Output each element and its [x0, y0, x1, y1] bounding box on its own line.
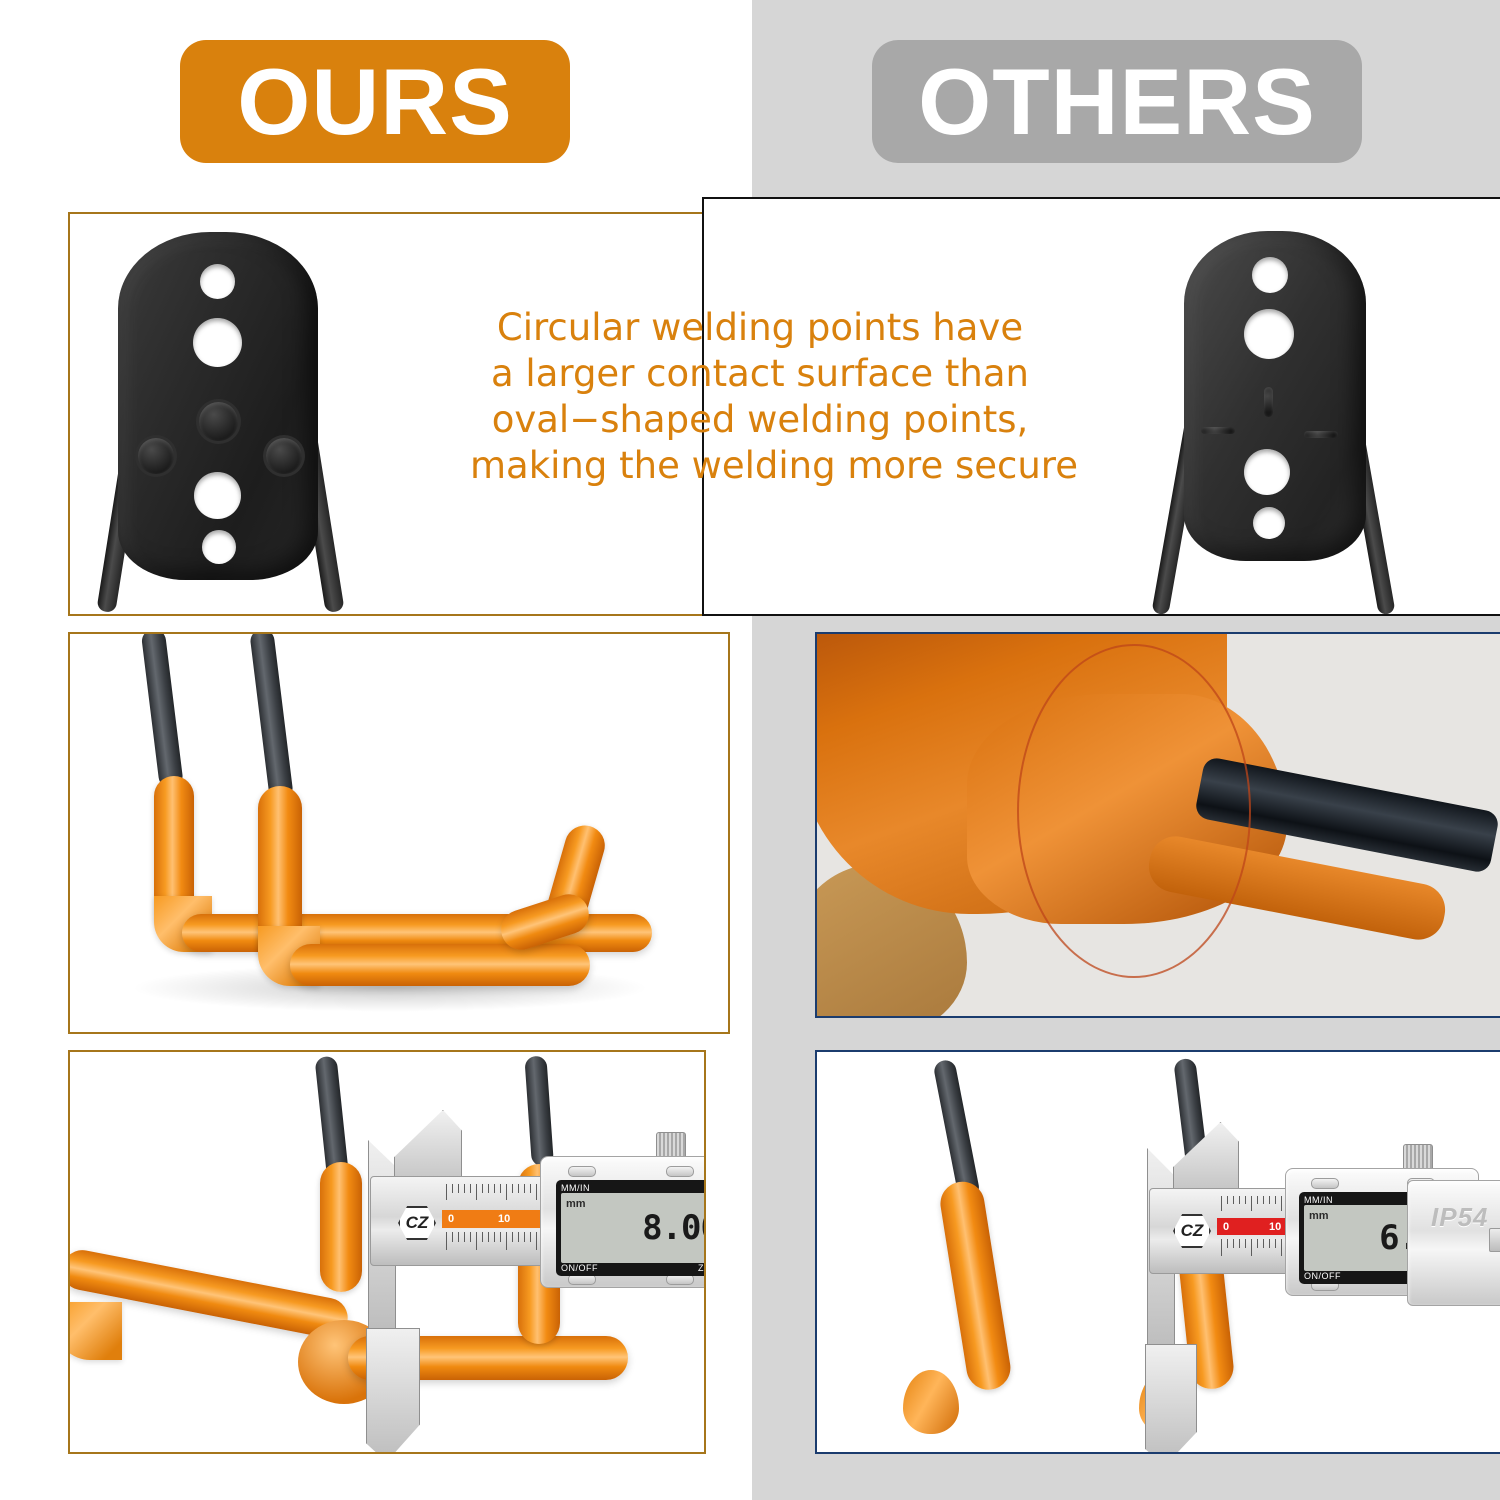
caliper-scale-start: 0: [448, 1213, 454, 1225]
caliper-lcd-module: MM/IN ABS mm 8.00 ON/OFF ZERO: [556, 1180, 706, 1276]
mounting-hole-upper: [1244, 309, 1294, 359]
hook-left-orange-sleeve: [937, 1179, 1013, 1393]
caliper-scale-start: 0: [1223, 1221, 1229, 1233]
mounting-hole-bottom: [1253, 507, 1285, 539]
caliper-depth-rod: [1489, 1228, 1500, 1252]
caliper-button-mmin-top[interactable]: [1311, 1178, 1339, 1189]
caliper-lower-blade: [1145, 1344, 1197, 1454]
panel-others-caliper: CZ 0 10: [815, 1050, 1500, 1454]
hook-front-horizontal: [290, 944, 590, 986]
lcd-label-mmin: MM/IN: [561, 1183, 590, 1193]
mounting-hole-top: [1252, 257, 1288, 293]
welding-point-oval-right: [1304, 431, 1338, 438]
lcd-unit: mm: [1309, 1210, 1329, 1222]
welding-point-center: [199, 402, 238, 441]
caption-line-1: Circular welding points have: [470, 305, 1050, 351]
caliper-slider-housing: [1407, 1180, 1500, 1306]
caliper-lower-blade: [366, 1328, 420, 1454]
caliper-button-abs-top[interactable]: [666, 1166, 694, 1177]
comparison-caption: Circular welding points have a larger co…: [470, 305, 1050, 489]
panel-ours-caliper: CZ 0 10: [68, 1050, 706, 1454]
caption-line-4: making the welding more secure: [470, 443, 1050, 489]
caliper-scale-mid: 10: [1269, 1221, 1281, 1233]
panel-ours-hook-coating: [68, 632, 730, 1034]
lcd-label-abs: ABS: [705, 1183, 706, 1193]
caliper-ingress-rating: IP54: [1431, 1202, 1489, 1233]
mounting-hole-top: [200, 264, 235, 299]
lcd-unit: mm: [566, 1198, 586, 1210]
caption-line-2: a larger contact surface than: [470, 351, 1050, 397]
hook-back-elbow: [68, 1302, 122, 1360]
badge-others: OTHERS: [872, 40, 1362, 163]
lcd-bottom-labels: ON/OFF ZERO: [561, 1263, 706, 1273]
lcd-value: 8.00: [642, 1211, 706, 1245]
hook-back-vertical: [320, 1162, 362, 1292]
welding-point-right: [266, 438, 302, 474]
welding-point-oval-center: [1264, 387, 1273, 417]
welding-point-oval-left: [1201, 427, 1235, 434]
hook-front-steel-arm: [249, 632, 294, 801]
lcd-screen: mm 8.00: [561, 1193, 706, 1263]
hook-back-steel-arm: [141, 632, 184, 789]
coating-thread: [1017, 644, 1251, 978]
lcd-top-labels: MM/IN ABS: [561, 1183, 706, 1193]
peeling-coating-photo: [817, 634, 1500, 1016]
lcd-label-onoff: ON/OFF: [1304, 1271, 1341, 1281]
hook-front-steel-arm: [524, 1056, 554, 1167]
welding-point-left: [138, 438, 174, 474]
caption-line-3: oval−shaped welding points,: [470, 397, 1050, 443]
caliper-button-mmin-top[interactable]: [568, 1166, 596, 1177]
lcd-label-zero: ZERO: [698, 1263, 706, 1273]
hook-left-end-cap: [903, 1370, 959, 1434]
mounting-hole-lower: [1244, 449, 1290, 495]
infographic-canvas: OURS OTHERS: [0, 0, 1500, 1500]
mounting-hole-upper: [193, 318, 242, 367]
lcd-label-onoff: ON/OFF: [561, 1263, 598, 1273]
mounting-hole-lower: [194, 472, 241, 519]
panel-others-peeling-coating: [815, 632, 1500, 1018]
lcd-label-mmin: MM/IN: [1304, 1195, 1333, 1205]
mounting-hole-bottom: [202, 530, 236, 564]
caliper-scale-mid: 10: [498, 1213, 510, 1225]
badge-ours: OURS: [180, 40, 570, 163]
hook-left-steel-arm: [932, 1058, 980, 1200]
